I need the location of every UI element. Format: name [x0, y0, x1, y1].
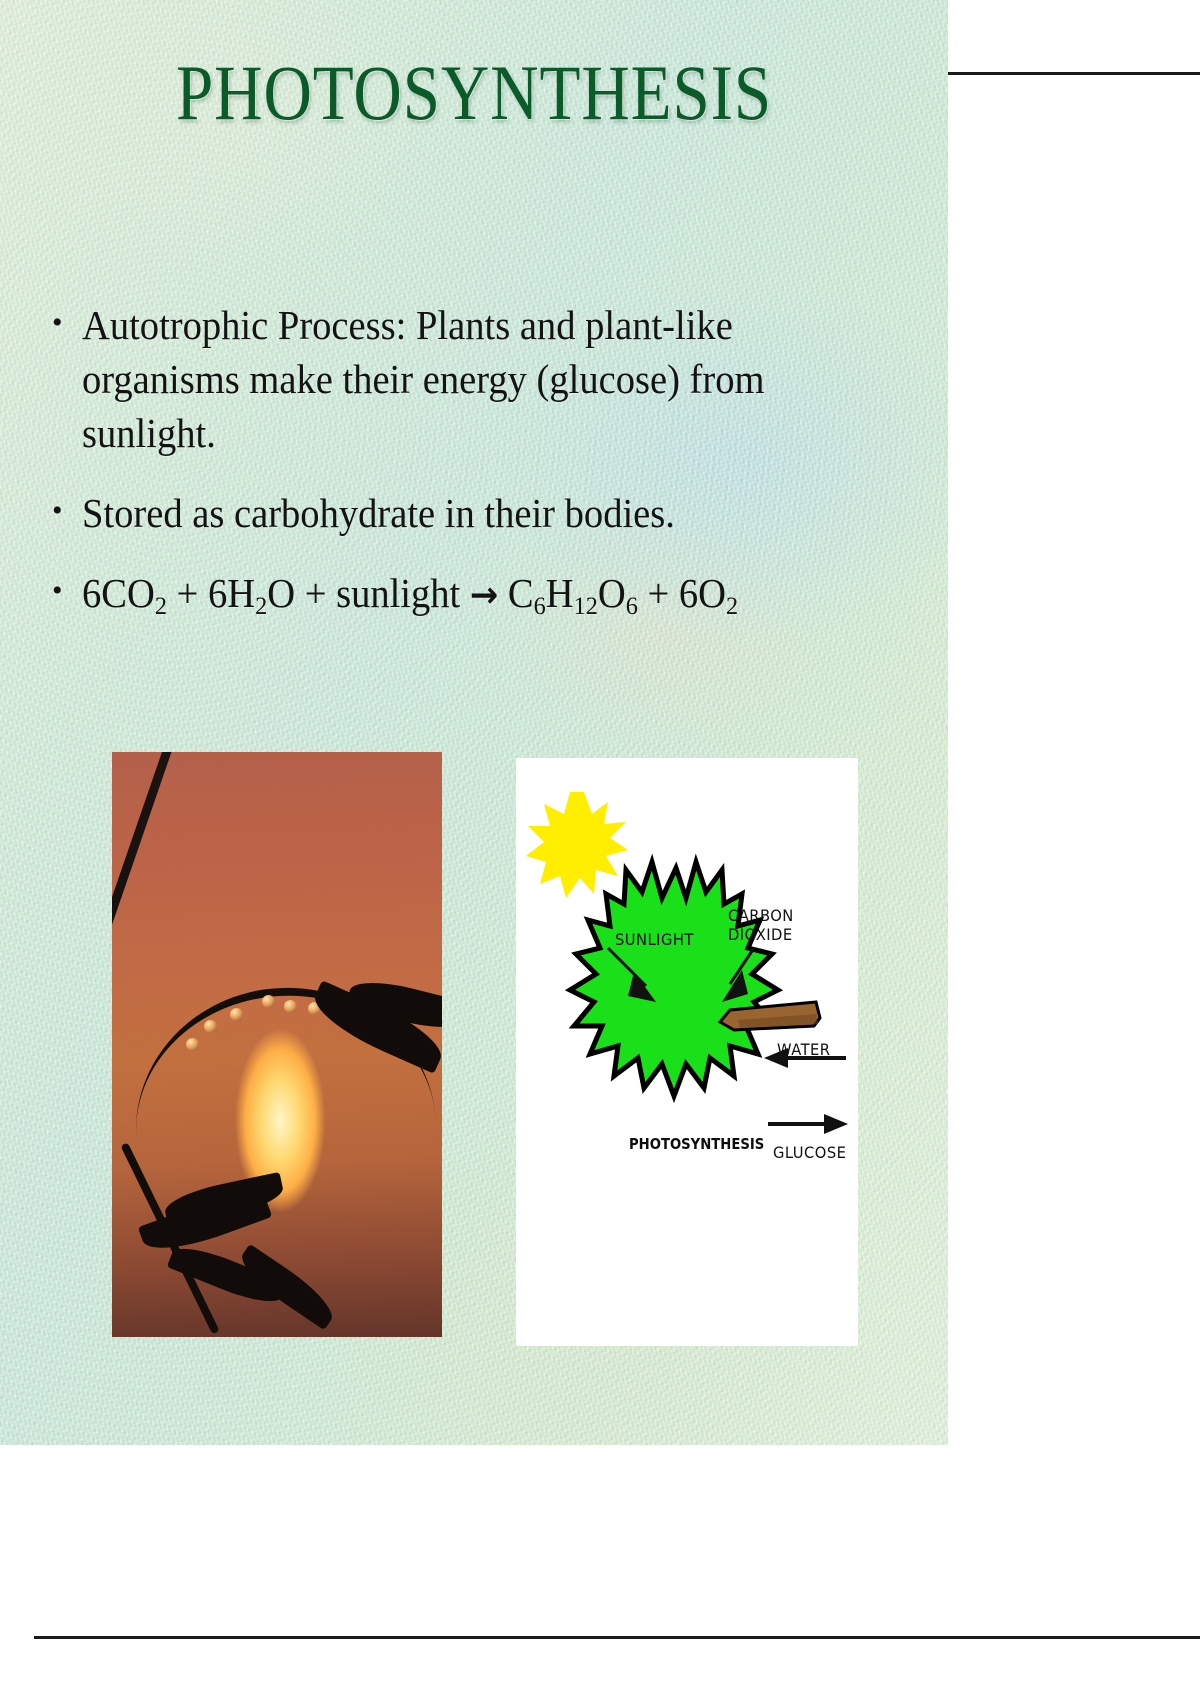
- equation-plus: +: [167, 570, 208, 616]
- dew-drop: [186, 1038, 199, 1051]
- bullet-list: • Autotrophic Process: Plants and plant-…: [52, 298, 920, 649]
- equation-reactant-h2o-a: 6H: [208, 570, 255, 616]
- leaf-shape: [570, 862, 778, 1096]
- equation-sub: 6: [626, 591, 638, 620]
- sunset-photograph: [112, 752, 442, 1337]
- header-rule: [948, 72, 1200, 75]
- equation-reactant-h2o-b: O: [267, 570, 295, 616]
- equation-sub: 6: [534, 591, 546, 620]
- bullet-marker-icon: •: [52, 566, 82, 616]
- bullet-marker-icon: •: [52, 486, 82, 536]
- co2-line-1: CARBON: [728, 906, 794, 925]
- bullet-text: Autotrophic Process: Plants and plant-li…: [82, 298, 870, 460]
- sun-icon: [526, 792, 628, 898]
- bullet-item-equation: • 6CO2 + 6H2O + sunlight → C6H12O6 + 6O2: [52, 566, 920, 623]
- equation-sub: 2: [255, 591, 267, 620]
- equation-plus: +: [638, 570, 679, 616]
- equation-product-glucose-c: O: [598, 570, 626, 616]
- slide-title: PHOTOSYNTHESIS: [66, 52, 881, 134]
- dew-drop: [284, 1000, 297, 1013]
- yields-arrow-icon: →: [470, 575, 498, 616]
- dew-drop: [262, 995, 275, 1008]
- equation-sub: 2: [726, 591, 738, 620]
- bullet-item-storage: • Stored as carbohydrate in their bodies…: [52, 486, 920, 540]
- presentation-slide: PHOTOSYNTHESIS • Autotrophic Process: Pl…: [0, 0, 948, 1445]
- diagram-label-photosynthesis: PHOTOSYNTHESIS: [629, 1135, 764, 1154]
- diagram-label-water: WATER: [777, 1040, 831, 1059]
- co2-line-2: DIOXIDE: [728, 925, 793, 944]
- glucose-arrow-head: [824, 1114, 848, 1134]
- equation-reactant-co2: 6CO: [82, 570, 155, 616]
- photosynthesis-diagram: SUNLIGHT CARBON DIOXIDE WATER GLUCOSE PH…: [516, 758, 858, 1346]
- bullet-marker-icon: •: [52, 298, 82, 348]
- equation-reactant-sunlight: sunlight: [336, 570, 470, 616]
- dew-drop: [204, 1020, 217, 1033]
- bullet-text: Stored as carbohydrate in their bodies.: [82, 486, 870, 540]
- bullet-item-autotrophic: • Autotrophic Process: Plants and plant-…: [52, 298, 920, 460]
- equation-plus: +: [295, 570, 336, 616]
- diagram-label-glucose: GLUCOSE: [773, 1143, 846, 1162]
- dew-drop: [230, 1008, 243, 1021]
- diagram-label-carbon-dioxide: CARBON DIOXIDE: [728, 906, 794, 944]
- footer-rule: [34, 1636, 1200, 1639]
- equation-product-glucose-a: C: [498, 570, 533, 616]
- diagram-label-sunlight: SUNLIGHT: [615, 930, 694, 949]
- equation-product-glucose-b: H: [546, 570, 574, 616]
- equation-product-o2: 6O: [679, 570, 726, 616]
- equation-sub: 12: [574, 591, 598, 620]
- equation-sub: 2: [155, 591, 167, 620]
- chemical-equation: 6CO2 + 6H2O + sunlight → C6H12O6 + 6O2: [82, 566, 870, 623]
